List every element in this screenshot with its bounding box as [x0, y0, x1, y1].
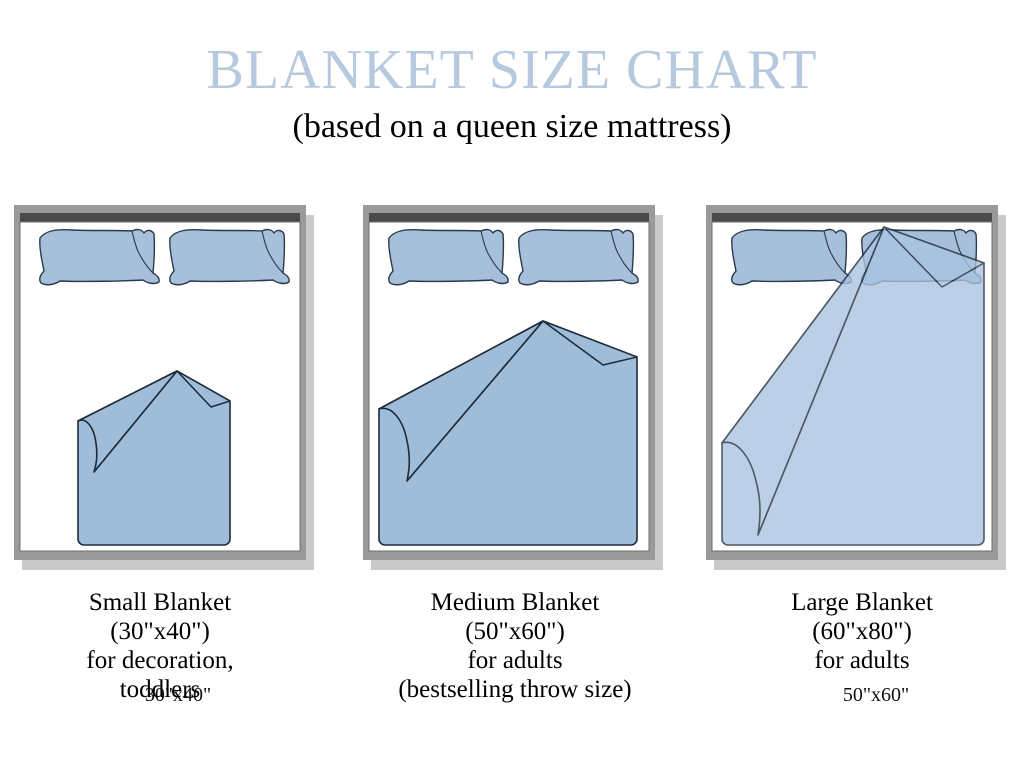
- caption-line: for adults: [335, 646, 695, 675]
- caption-large-blanket: Large Blanket (60"x80") for adults: [700, 588, 1024, 675]
- bed-illustration-large: [706, 205, 1006, 570]
- panel-large-blanket: 60"x80": [706, 205, 1006, 570]
- caption-line: Small Blanket: [0, 588, 320, 617]
- blanket-size-chart-page: BLANKET SIZE CHART (based on a queen siz…: [0, 0, 1024, 768]
- caption-line: Large Blanket: [700, 588, 1024, 617]
- page-title: BLANKET SIZE CHART: [0, 40, 1024, 100]
- panel-medium-blanket: 50"x60": [363, 205, 663, 570]
- caption-line: (30"x40"): [0, 617, 320, 646]
- bed-illustration-small: [14, 205, 314, 570]
- caption-line: (60"x80"): [700, 617, 1024, 646]
- bed-headboard-bar: [20, 213, 300, 222]
- caption-medium-blanket: Medium Blanket (50"x60") for adults (bes…: [335, 588, 695, 704]
- caption-line: (50"x60"): [335, 617, 695, 646]
- size-label-medium: 50"x60": [726, 684, 1024, 706]
- bed-headboard-bar: [712, 213, 992, 222]
- panel-small-blanket: 30"x40": [14, 205, 314, 570]
- caption-line: for decoration,: [0, 646, 320, 675]
- bed-illustration-medium: [363, 205, 663, 570]
- caption-line: Medium Blanket: [335, 588, 695, 617]
- caption-small-blanket: Small Blanket (30"x40") for decoration, …: [0, 588, 320, 704]
- bed-headboard-bar: [369, 213, 649, 222]
- caption-line: toddlers: [0, 675, 320, 704]
- page-subtitle: (based on a queen size mattress): [0, 108, 1024, 146]
- caption-line: for adults: [700, 646, 1024, 675]
- caption-line: (bestselling throw size): [335, 675, 695, 704]
